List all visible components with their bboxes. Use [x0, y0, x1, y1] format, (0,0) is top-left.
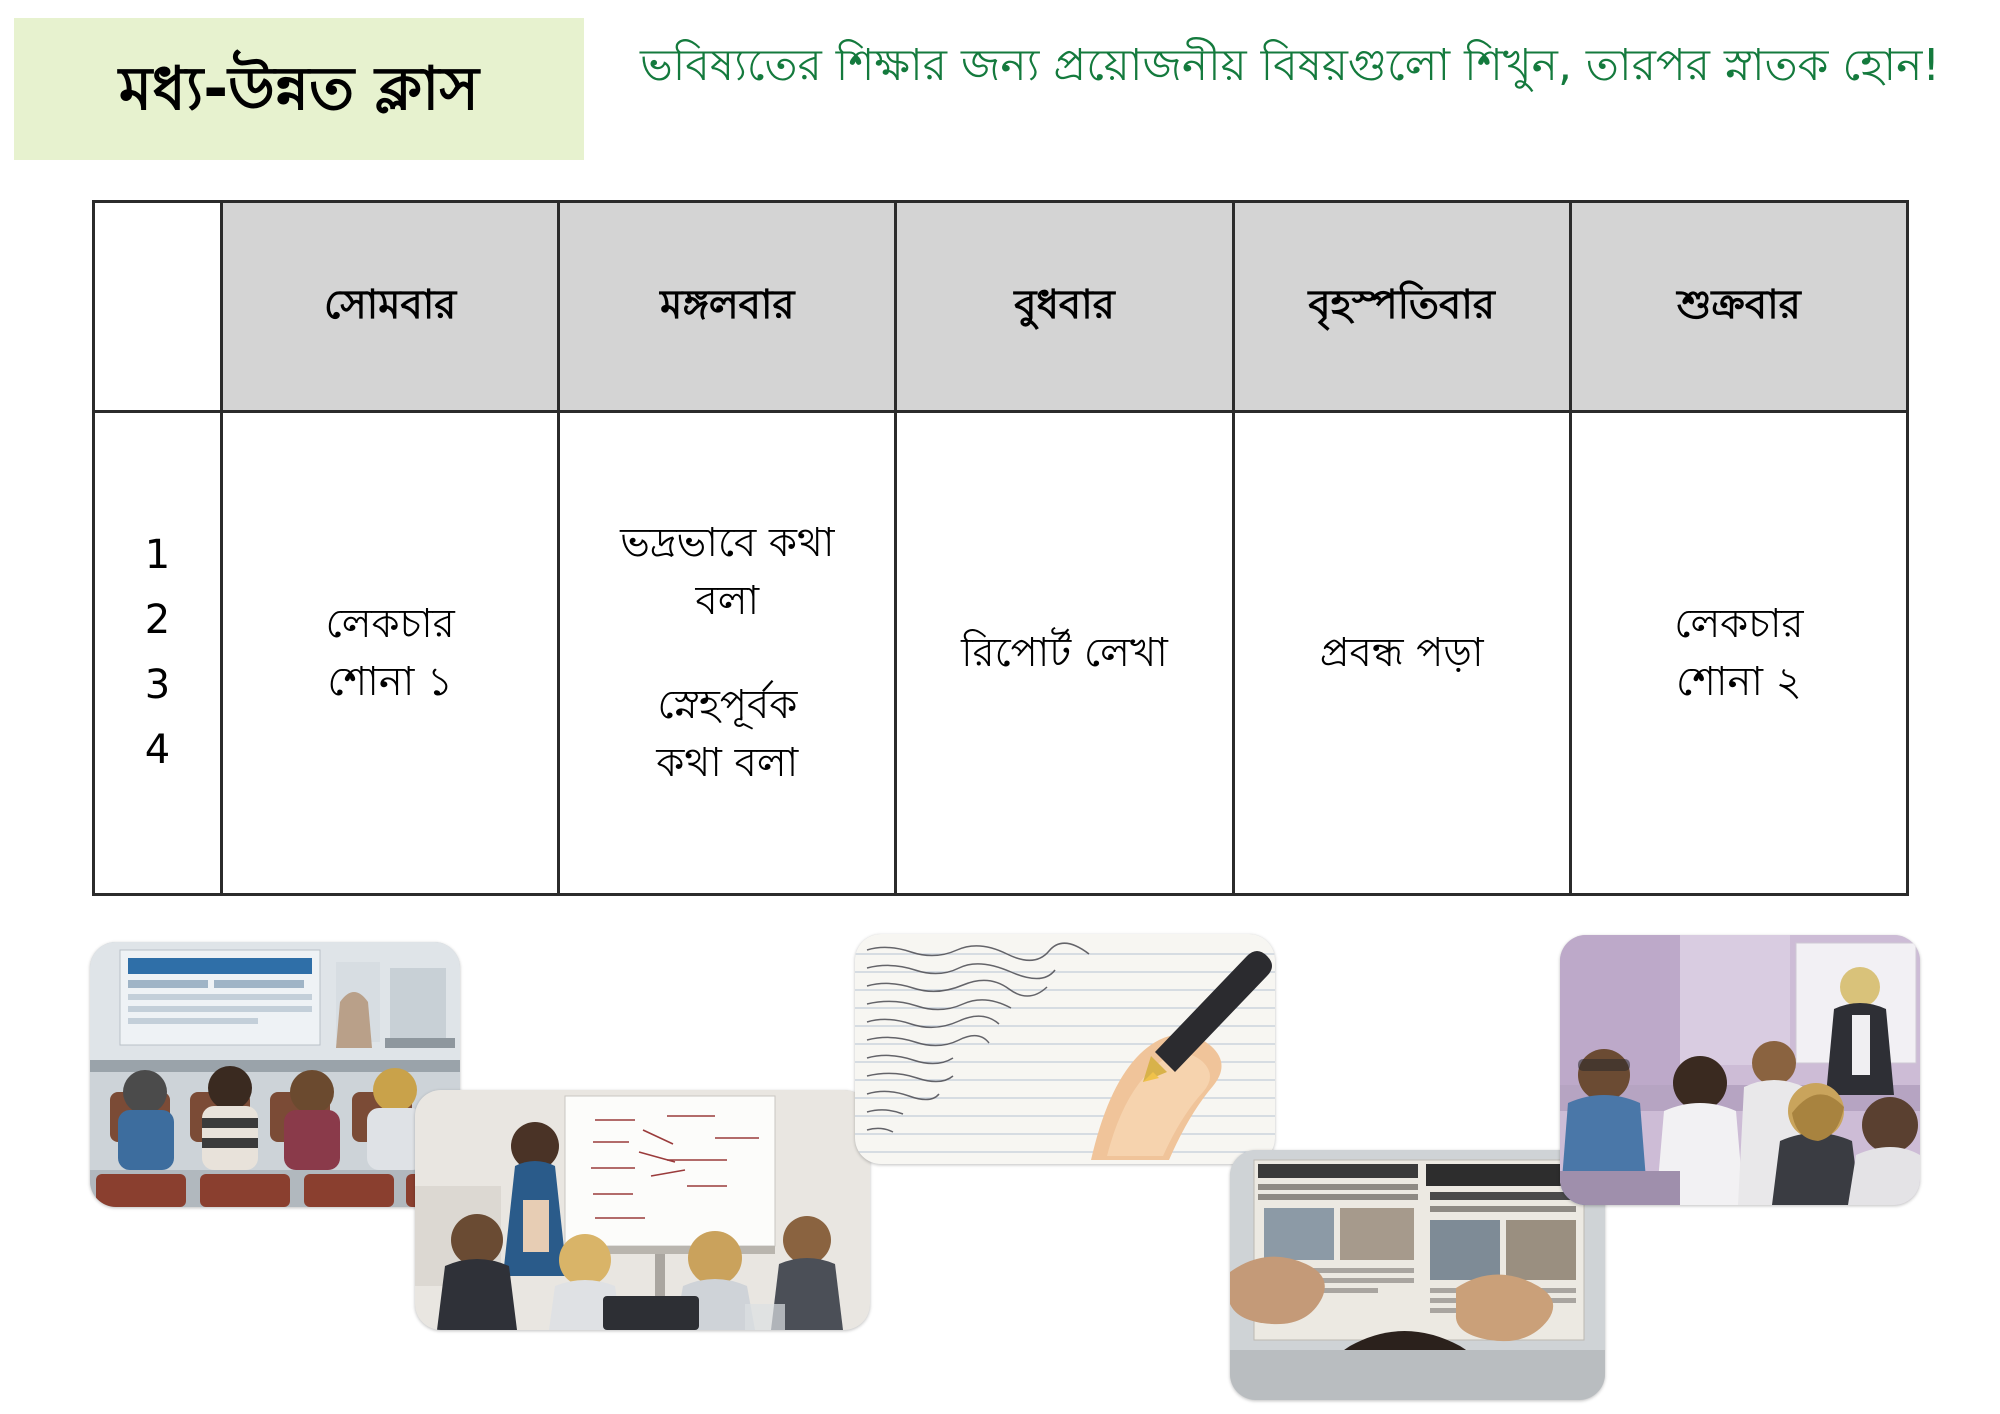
page-title: মধ্য-উন্নত ক্লাস	[119, 56, 479, 122]
cell-thursday-line-1: প্রবন্ধ পড়া	[1236, 624, 1568, 682]
newspaper-reading-photo	[1230, 1150, 1605, 1400]
seminar-audience-photo	[1560, 935, 1920, 1205]
cell-monday: লেকচার শোনা ১	[222, 412, 559, 895]
cell-tuesday-line-1: ভদ্রভাবে কথা	[561, 514, 893, 572]
title-badge: মধ্য-উন্নত ক্লাস	[14, 18, 584, 160]
cell-thursday: প্রবন্ধ পড়া	[1233, 412, 1570, 895]
column-header-thursday: বৃহস্পতিবার	[1233, 202, 1570, 412]
column-header-monday: সোমবার	[222, 202, 559, 412]
column-header-tuesday: মঙ্গলবার	[559, 202, 896, 412]
cell-friday-line-1: লেকচার	[1573, 595, 1905, 653]
cell-tuesday-line-4: কথা বলা	[561, 734, 893, 792]
cell-tuesday-line-2: বলা	[561, 572, 893, 630]
cell-friday-line-2: শোনা ২	[1573, 653, 1905, 711]
cell-tuesday-spacer	[561, 630, 893, 676]
page-subtitle: ভবিষ্যতের শিক্ষার জন্য প্রয়োজনীয় বিষয়…	[640, 34, 1960, 98]
column-header-wednesday: বুধবার	[896, 202, 1233, 412]
cell-friday: লেকচার শোনা ২	[1570, 412, 1907, 895]
lecture-hall-photo	[90, 942, 460, 1207]
table-corner-cell	[94, 202, 222, 412]
period-2: 2	[96, 588, 219, 653]
table-row: 1 2 3 4 লেকচার শোনা ১ ভদ্রভাবে কথা বলা স…	[94, 412, 1908, 895]
table-header-row: সোমবার মঙ্গলবার বুধবার বৃহস্পতিবার শুক্র…	[94, 202, 1908, 412]
weekly-schedule-table: সোমবার মঙ্গলবার বুধবার বৃহস্পতিবার শুক্র…	[92, 200, 1909, 896]
cell-monday-line-1: লেকচার	[224, 595, 556, 653]
cell-tuesday: ভদ্রভাবে কথা বলা স্নেহপূর্বক কথা বলা	[559, 412, 896, 895]
column-header-friday: শুক্রবার	[1570, 202, 1907, 412]
period-numbers-cell: 1 2 3 4	[94, 412, 222, 895]
period-3: 3	[96, 653, 219, 718]
page-header: মধ্য-উন্নত ক্লাস ভবিষ্যতের শিক্ষার জন্য …	[0, 0, 2000, 190]
cell-tuesday-line-3: স্নেহপূর্বক	[561, 676, 893, 734]
cell-wednesday: রিপোর্ট লেখা	[896, 412, 1233, 895]
whiteboard-presentation-photo	[415, 1090, 870, 1330]
cell-monday-line-2: শোনা ১	[224, 653, 556, 711]
period-4: 4	[96, 718, 219, 783]
cell-wednesday-line-1: রিপোর্ট লেখা	[898, 624, 1230, 682]
period-1: 1	[96, 523, 219, 588]
handwriting-notes-photo	[855, 934, 1275, 1164]
photo-collage	[0, 930, 2000, 1410]
